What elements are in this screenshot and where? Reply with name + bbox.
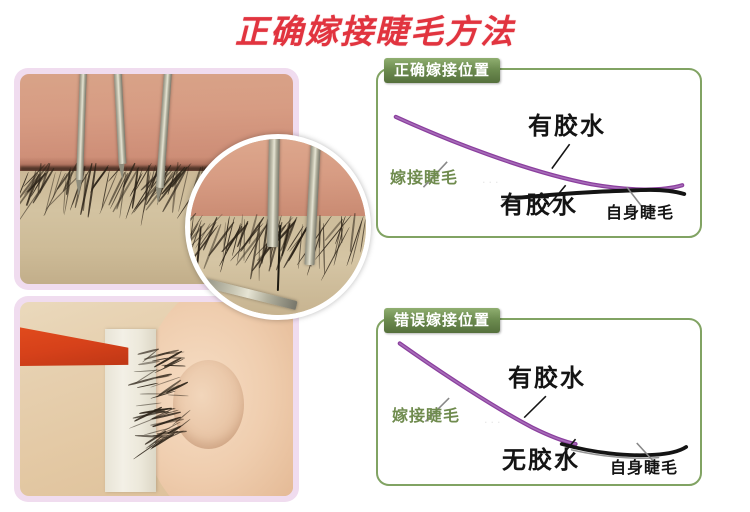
watermark-ghost-wrong: ··· [484, 416, 504, 429]
watermark-ghost-correct: ··· [482, 176, 502, 189]
label-extension-correct: 嫁接睫毛 [390, 170, 458, 186]
poster-canvas: 正确嫁接睫毛方法 正确嫁接 [0, 0, 750, 512]
lash-strand [318, 215, 320, 248]
photo-bottom-inner [20, 302, 293, 496]
lash-strand [365, 222, 368, 256]
natural-lash-curve-wrong [562, 444, 686, 455]
lash-strand [167, 394, 188, 396]
label-glue-top-correct: 有胶水 [528, 114, 606, 138]
eye-lashes [157, 349, 217, 469]
page-title: 正确嫁接睫毛方法 [0, 10, 750, 54]
magnified-inset [185, 134, 371, 320]
diagram-panel-wrong: 错误嫁接位置 有胶水 无胶水 嫁接睫毛 自身睫毛 ··· [376, 318, 702, 486]
label-natural-wrong: 自身睫毛 [610, 460, 678, 476]
label-glue-bottom-correct: 有胶水 [500, 193, 578, 217]
label-glue-top-wrong: 有胶水 [508, 366, 586, 390]
label-extension-wrong: 嫁接睫毛 [392, 408, 460, 424]
diagram-panel-correct: 正确嫁接位置 有胶水 有胶水 嫁接睫毛 自身睫毛 ··· [376, 68, 702, 238]
leader-glue-top-wrong [524, 396, 546, 417]
eye-pad-taping-photo [14, 296, 299, 502]
label-glue-bottom-wrong: 无胶水 [502, 448, 580, 472]
leader-glue-top-correct [552, 144, 570, 168]
label-natural-correct: 自身睫毛 [606, 205, 674, 221]
